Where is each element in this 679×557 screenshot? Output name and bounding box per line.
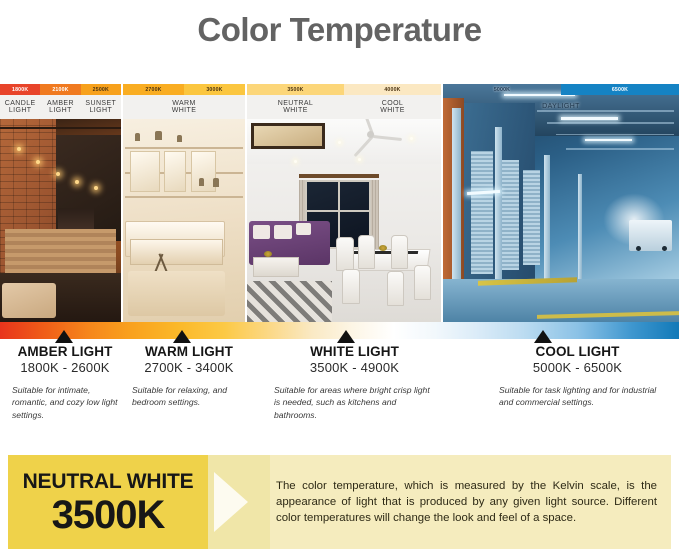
name-band: AMBER LIGHT (40, 95, 80, 119)
photo-warm-living-room (123, 119, 245, 322)
footer-callout: NEUTRAL WHITE 3500K The color temperatur… (8, 455, 671, 549)
kelvin-band-row-amber: 1800K 2100K 2500K (0, 84, 121, 95)
kelvin-band: 4000K (344, 84, 441, 95)
kelvin-band: 2500K (81, 84, 121, 95)
scale-marker-white (337, 330, 355, 343)
category-title: AMBER LIGHT (6, 344, 124, 359)
panel-cool-daylight[interactable]: 5000K 6500K DAYLIGHT (443, 84, 679, 322)
name-band: NEUTRAL WHITE (247, 95, 344, 119)
category-cool-light: COOL LIGHT 5000K - 6500K Suitable for ta… (495, 344, 660, 409)
name-band-row-neutral: NEUTRAL WHITE COOL WHITE (247, 95, 441, 119)
kelvin-band: 3000K (184, 84, 245, 95)
footer-chevron (208, 455, 270, 549)
kelvin-band-row-cool: 5000K 6500K (443, 84, 679, 95)
category-range: 2700K - 3400K (130, 360, 248, 375)
name-band-row-amber: CANDLE LIGHT AMBER LIGHT SUNSET LIGHT (0, 95, 121, 119)
name-band: SUNSET LIGHT (81, 95, 121, 119)
name-band: CANDLE LIGHT (0, 95, 40, 119)
header: Color Temperature (0, 0, 679, 60)
category-range: 5000K - 6500K (495, 360, 660, 375)
panel-warm-white[interactable]: 2700K 3000K WARM WHITE (123, 84, 247, 322)
name-band: WARM WHITE (123, 95, 245, 119)
page-title: Color Temperature (197, 11, 481, 49)
footer-paragraph: The color temperature, which is measured… (276, 478, 657, 527)
category-title: WHITE LIGHT (272, 344, 437, 359)
kelvin-band-row-warm: 2700K 3000K (123, 84, 245, 95)
category-description: Suitable for intimate, romantic, and coz… (6, 384, 124, 421)
panel-amber[interactable]: 1800K 2100K 2500K CANDLE LIGHT AMBER LIG… (0, 84, 123, 322)
name-band: COOL WHITE (344, 95, 441, 119)
category-warm-light: WARM LIGHT 2700K - 3400K Suitable for re… (130, 344, 248, 409)
footer-badge: NEUTRAL WHITE 3500K (8, 455, 208, 549)
kelvin-band: 2100K (40, 84, 80, 95)
category-range: 1800K - 2600K (6, 360, 124, 375)
category-list: AMBER LIGHT 1800K - 2600K Suitable for i… (0, 344, 679, 444)
kelvin-band: 1800K (0, 84, 40, 95)
category-title: COOL LIGHT (495, 344, 660, 359)
chevron-right-icon (214, 472, 248, 532)
kelvin-band: 3500K (247, 84, 344, 95)
kelvin-band: 6500K (561, 84, 679, 95)
name-band-row-cool: DAYLIGHT (443, 95, 679, 119)
scale-marker-cool (534, 330, 552, 343)
photo-neutral-living-dining (247, 119, 441, 322)
footer-text-panel: The color temperature, which is measured… (270, 455, 671, 549)
scale-marker-warm (173, 330, 191, 343)
category-white-light: WHITE LIGHT 3500K - 4900K Suitable for a… (272, 344, 437, 421)
name-band: DAYLIGHT (443, 95, 679, 119)
panel-neutral-white[interactable]: 3500K 4000K NEUTRAL WHITE COOL WHITE (247, 84, 443, 322)
category-amber-light: AMBER LIGHT 1800K - 2600K Suitable for i… (6, 344, 124, 421)
photo-amber-cafe (0, 119, 121, 322)
category-description: Suitable for relaxing, and bedroom setti… (130, 384, 248, 409)
name-band-row-warm: WARM WHITE (123, 95, 245, 119)
kelvin-band: 5000K (443, 84, 561, 95)
footer-badge-label: NEUTRAL WHITE (23, 470, 194, 494)
kelvin-band: 2700K (123, 84, 184, 95)
category-description: Suitable for task lighting and for indus… (495, 384, 660, 409)
kelvin-band-row-neutral: 3500K 4000K (247, 84, 441, 95)
color-temperature-strip: 1800K 2100K 2500K CANDLE LIGHT AMBER LIG… (0, 84, 679, 322)
scale-marker-amber (55, 330, 73, 343)
category-title: WARM LIGHT (130, 344, 248, 359)
photo-cool-warehouse (443, 84, 679, 322)
footer-badge-value: 3500K (52, 496, 165, 534)
category-description: Suitable for areas where bright crisp li… (272, 384, 437, 421)
category-range: 3500K - 4900K (272, 360, 437, 375)
